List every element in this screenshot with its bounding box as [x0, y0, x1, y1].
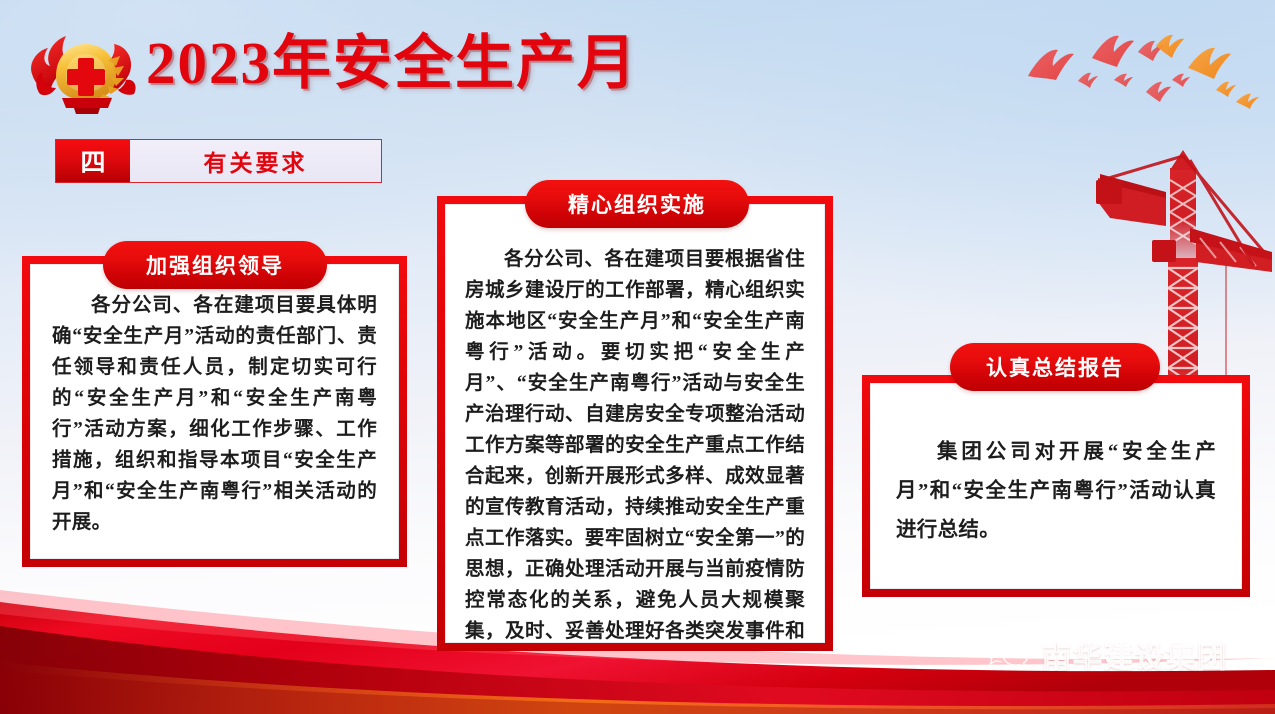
card-badge-organization-leadership: 加强组织领导	[103, 241, 327, 289]
content-card-summary-report: 集团公司对开展“安全生产月”和“安全生产南粤行”活动认真进行总结。	[862, 375, 1250, 597]
card-badge-summary-report: 认真总结报告	[950, 343, 1160, 391]
card-inner: 集团公司对开展“安全生产月”和“安全生产南粤行”活动认真进行总结。	[870, 383, 1242, 589]
page-title: 2023年安全生产月	[146, 30, 638, 96]
watermark-text: 南华建设集团	[1042, 634, 1228, 676]
card-body-text: 各分公司、各在建项目要具体明确“安全生产月”活动的责任部门、责任领导和责任人员，…	[52, 290, 377, 538]
safety-production-emblem	[22, 24, 150, 116]
wechat-icon	[985, 636, 1031, 675]
card-badge-careful-implementation: 精心组织实施	[525, 180, 749, 228]
slide-canvas: 2023年安全生产月 四 有关要求 各分公司、各在建项目要具体明确“安全生产月”…	[0, 0, 1275, 714]
card-inner: 各分公司、各在建项目要根据省住房城乡建设厅的工作部署，精心组织实施本地区“安全生…	[445, 204, 825, 643]
section-title: 有关要求	[130, 140, 381, 182]
section-header: 四 有关要求	[55, 139, 382, 183]
section-number: 四	[56, 140, 130, 182]
card-inner: 各分公司、各在建项目要具体明确“安全生产月”活动的责任部门、责任领导和责任人员，…	[30, 264, 399, 559]
flying-birds-decoration	[1020, 18, 1270, 128]
content-card-careful-implementation: 各分公司、各在建项目要根据省住房城乡建设厅的工作部署，精心组织实施本地区“安全生…	[437, 196, 833, 651]
content-card-organization-leadership: 各分公司、各在建项目要具体明确“安全生产月”活动的责任部门、责任领导和责任人员，…	[22, 256, 407, 567]
watermark: 南华建设集团	[985, 634, 1228, 676]
card-body-text: 集团公司对开展“安全生产月”和“安全生产南粤行”活动认真进行总结。	[896, 433, 1216, 550]
card-body-text: 各分公司、各在建项目要根据省住房城乡建设厅的工作部署，精心组织实施本地区“安全生…	[465, 244, 805, 643]
